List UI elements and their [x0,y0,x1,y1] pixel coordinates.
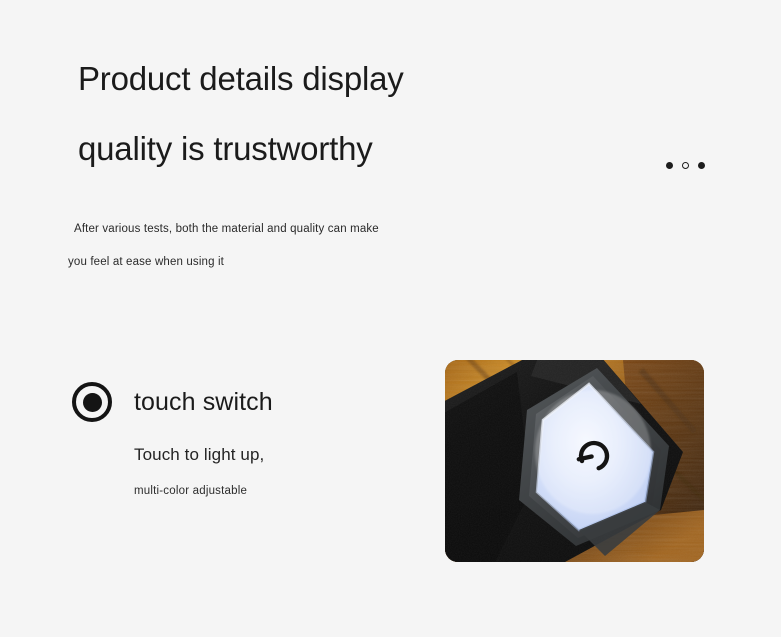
carousel-dot-3[interactable] [698,162,705,169]
subcopy: After various tests, both the material a… [68,213,488,279]
feature-touch-switch: touch switch Touch to light up, multi-co… [72,381,273,423]
feature-subtitle: Touch to light up, [134,445,264,465]
product-photo [445,360,704,562]
page-title: Product details display quality is trust… [78,44,578,184]
bullseye-core [83,393,102,412]
carousel-dots[interactable] [666,162,705,169]
product-detail-page: Product details display quality is trust… [0,0,781,637]
glow-bloom [535,390,651,514]
headline-line-1: Product details display [78,44,578,114]
subcopy-line-2: you feel at ease when using it [68,246,488,279]
feature-header: touch switch [72,381,273,423]
bullseye-icon [72,382,112,422]
headline-line-2: quality is trustworthy [78,114,578,184]
carousel-dot-1[interactable] [666,162,673,169]
product-photo-illustration [445,360,704,562]
feature-title: touch switch [134,388,273,417]
feature-detail: multi-color adjustable [134,485,247,497]
carousel-dot-2[interactable] [682,162,689,169]
subcopy-line-1: After various tests, both the material a… [68,213,488,246]
